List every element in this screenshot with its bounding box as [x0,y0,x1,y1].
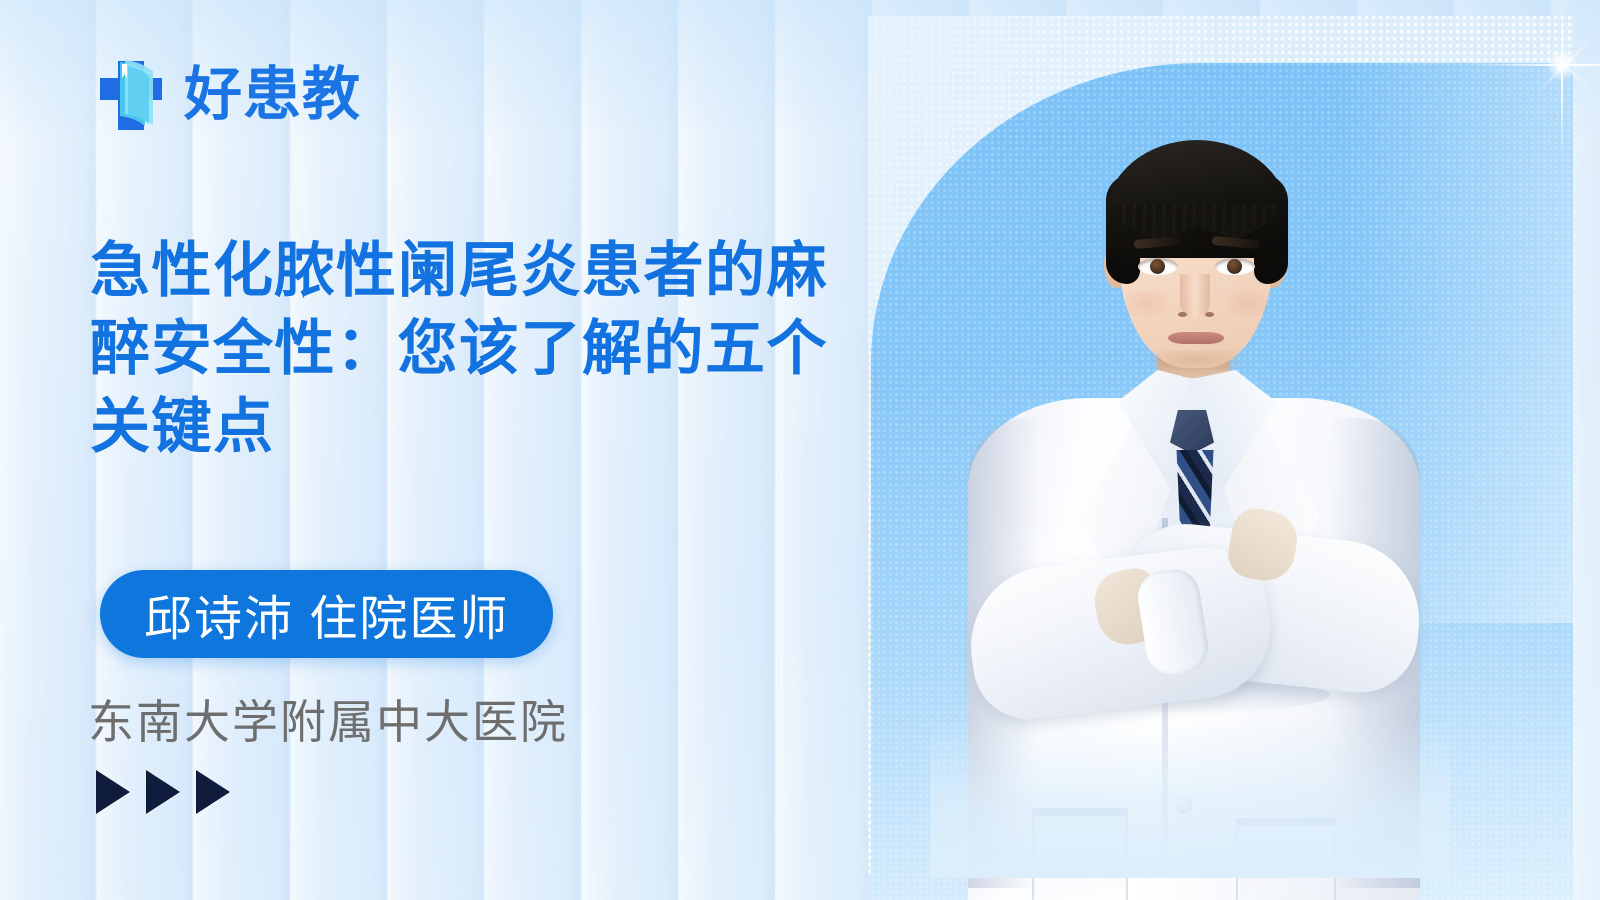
hair [1106,140,1288,258]
iris-right [1227,259,1242,274]
mouth [1168,332,1224,344]
cheek-right [1228,290,1268,316]
portrait-bottom-fade [930,718,1450,878]
cheek-left [1126,290,1166,316]
iris-left [1150,259,1165,274]
arrow-decoration [96,770,230,814]
slide-canvas: 好患教 急性化脓性阑尾炎患者的麻醉安全性：您该了解的五个关键点 邱诗沛 住院医师… [0,0,1600,900]
brand-name: 好患教 [184,66,361,124]
play-triangle-icon [146,770,180,814]
eye-right [1215,258,1255,275]
medical-cross-book-icon [92,52,170,138]
eye-left [1138,258,1178,275]
hospital-name: 东南大学附属中大医院 [88,686,568,752]
doctor-portrait [930,78,1450,878]
page-title: 急性化脓性阑尾炎患者的麻醉安全性：您该了解的五个关键点 [90,232,880,466]
chin-shading [1152,350,1240,370]
presenter-badge: 邱诗沛 住院医师 [100,570,553,658]
brand-logo[interactable]: 好患教 [92,52,361,138]
nostril-right [1205,312,1214,317]
play-triangle-icon [196,770,230,814]
nostril-left [1178,312,1187,317]
play-triangle-icon [96,770,130,814]
